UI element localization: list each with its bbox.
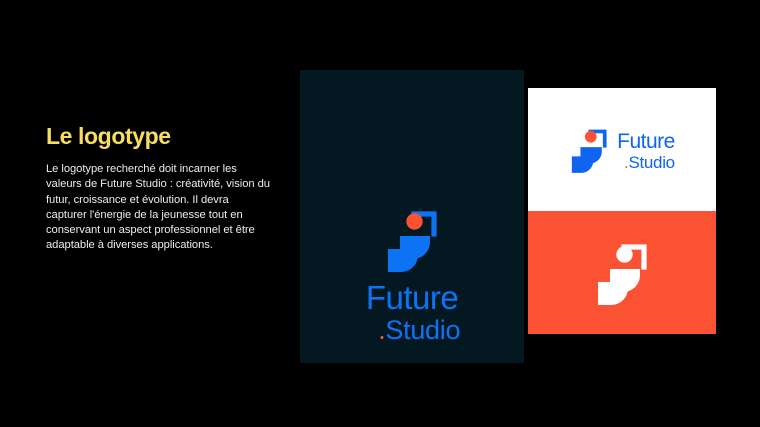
- logo-mark-only: [528, 211, 716, 334]
- wordmark-horizontal: Future .Studio: [617, 131, 675, 171]
- slide-canvas: Le logotype Le logotype recherché doit i…: [0, 0, 760, 427]
- wordmark-studio: .Studio: [624, 154, 675, 171]
- wordmark-studio-text: Studio: [385, 315, 460, 345]
- description-paragraph: Le logotype recherché doit incarner les …: [46, 162, 271, 253]
- logo-panel-white: Future .Studio: [528, 88, 716, 211]
- wordmark-vertical: Future .Studio: [366, 281, 458, 344]
- logo-panel-orange: [528, 211, 716, 334]
- future-studio-logo-mark-blue-small: [569, 127, 609, 173]
- text-column: Le logotype Le logotype recherché doit i…: [46, 124, 271, 253]
- logo-panel-dark: Future .Studio: [300, 70, 524, 363]
- wordmark-future: Future: [617, 131, 675, 152]
- logo-lockup-horizontal: Future .Studio: [528, 88, 716, 211]
- page-title: Le logotype: [46, 124, 271, 148]
- future-studio-logo-mark-white: [594, 241, 650, 305]
- logo-lockup-vertical: Future .Studio: [300, 208, 524, 344]
- wordmark-studio-text: Studio: [628, 153, 674, 172]
- future-studio-logo-mark-blue: [384, 208, 440, 272]
- wordmark-studio: .Studio: [378, 317, 460, 344]
- wordmark-future: Future: [366, 281, 458, 314]
